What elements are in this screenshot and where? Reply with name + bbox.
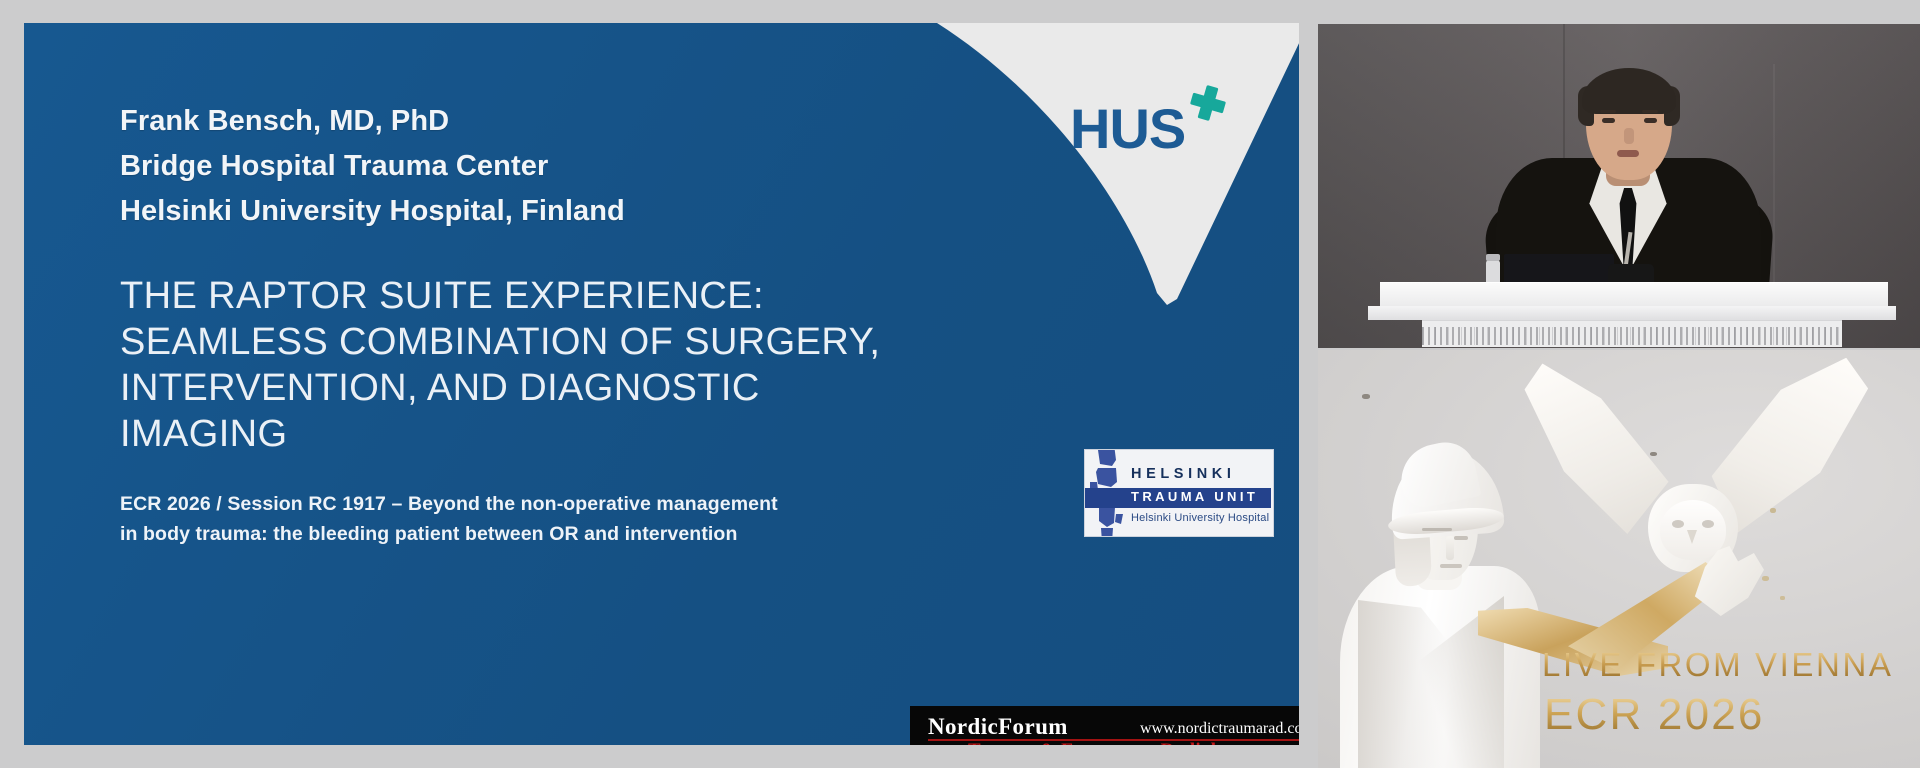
right-column: LIVE FROM VIENNA ECR 2026 [1318, 24, 1920, 768]
screen: Frank Bensch, MD, PhD Bridge Hospital Tr… [0, 0, 1920, 768]
htu-line-helsinki: HELSINKI [1131, 466, 1235, 482]
session-line-1: ECR 2026 / Session RC 1917 – Beyond the … [120, 489, 920, 519]
slide-title: THE RAPTOR SUITE EXPERIENCE: SEAMLESS CO… [120, 273, 1060, 457]
speaker-eye-right [1644, 118, 1657, 123]
owl-eye-left [1672, 520, 1684, 528]
speaker-brow-left [1600, 110, 1616, 113]
slide-title-line-3: INTERVENTION, AND DIAGNOSTIC [120, 365, 1060, 411]
presenter-line-3: Helsinki University Hospital, Finland [120, 189, 1020, 234]
wall-seam-secondary [1773, 64, 1775, 282]
nordic-forum-url[interactable]: www.nordictraumarad.com [1140, 719, 1299, 739]
presenter-line-1: Frank Bensch, MD, PhD [120, 99, 1020, 144]
promo-subheadline: ECR 2026 [1544, 690, 1765, 740]
lectern-middle [1368, 306, 1896, 320]
lectern-top [1380, 282, 1888, 309]
speaker-eye-left [1602, 118, 1615, 123]
presenter-block: Frank Bensch, MD, PhD Bridge Hospital Tr… [120, 99, 1020, 234]
debris-fleck [1362, 394, 1370, 399]
lectern-ornament [1422, 320, 1842, 347]
speaker-video-feed[interactable] [1318, 24, 1920, 348]
debris-fleck [1650, 452, 1657, 456]
slide-title-line-4: IMAGING [120, 411, 1060, 457]
debris-fleck [1770, 508, 1776, 513]
lectern-ornament-pattern [1422, 327, 1842, 345]
water-bottle-cap [1486, 254, 1500, 261]
nordic-forum-banner[interactable]: NordicForum www.nordictraumarad.com Trau… [910, 706, 1299, 745]
speaker-nose [1624, 128, 1634, 144]
presenter-line-2: Bridge Hospital Trauma Center [120, 144, 1020, 189]
presentation-slide[interactable]: Frank Bensch, MD, PhD Bridge Hospital Tr… [24, 23, 1299, 745]
slide-title-line-1: THE RAPTOR SUITE EXPERIENCE: [120, 273, 1060, 319]
hus-logo: HUS [1070, 75, 1260, 161]
slide-title-line-2: SEAMLESS COMBINATION OF SURGERY, [120, 319, 1060, 365]
debris-fleck [1780, 596, 1785, 600]
nordic-forum-brand: NordicForum [928, 715, 1068, 739]
helsinki-trauma-unit-logo: HELSINKI TRAUMA UNIT Helsinki University… [1084, 449, 1274, 537]
promo-headline: LIVE FROM VIENNA [1542, 646, 1894, 684]
htu-line-trauma-unit: TRAUMA UNIT [1131, 489, 1258, 504]
session-info: ECR 2026 / Session RC 1917 – Beyond the … [120, 489, 920, 549]
nordic-forum-tagline: Trauma & Emergency Radiology [968, 739, 1246, 745]
statue-mouth [1440, 564, 1462, 568]
debris-fleck [1762, 576, 1769, 581]
statue-nose [1446, 536, 1454, 560]
htu-line-university-hospital: Helsinki University Hospital [1131, 512, 1269, 524]
statue-brow [1422, 528, 1452, 531]
session-line-2: in body trauma: the bleeding patient bet… [120, 519, 920, 549]
htu-text-block: HELSINKI TRAUMA UNIT Helsinki University… [1125, 450, 1271, 536]
speaker-mouth [1617, 150, 1639, 157]
owl-eye-right [1702, 520, 1714, 528]
ecr-promo-image[interactable]: LIVE FROM VIENNA ECR 2026 [1318, 350, 1920, 768]
hus-cross-icon [1188, 83, 1228, 123]
statue-eye [1454, 536, 1468, 540]
hus-wordmark: HUS [1070, 101, 1185, 157]
nordic-forum-top-row: NordicForum www.nordictraumarad.com [928, 715, 1299, 739]
speaker-brow-right [1642, 110, 1658, 113]
